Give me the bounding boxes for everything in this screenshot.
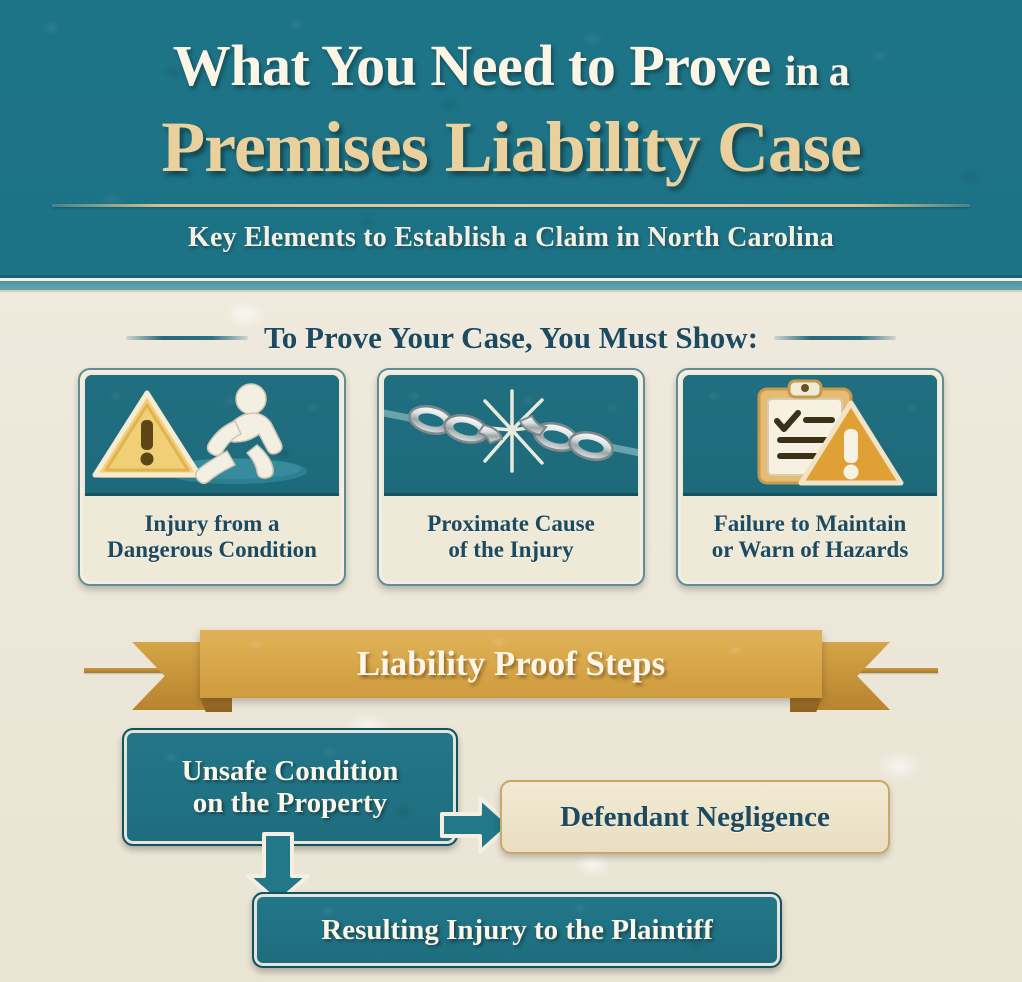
card-caption-1-line2: Dangerous Condition <box>107 537 317 562</box>
header-banner: What You Need to Provein a Premises Liab… <box>0 0 1022 278</box>
card-caption-3: Failure to Maintain or Warn of Hazards <box>678 496 942 584</box>
liability-proof-steps-ribbon: Liability Proof Steps <box>0 620 1022 716</box>
section-rule-left <box>126 336 248 340</box>
proof-card-injury-dangerous-condition[interactable]: Injury from a Dangerous Condition <box>78 368 346 586</box>
card-caption-3-line2: or Warn of Hazards <box>712 537 909 562</box>
ribbon-tail-left <box>132 642 210 710</box>
proof-elements-card-row: Injury from a Dangerous Condition <box>78 368 944 588</box>
flow-unsafe-line2: on the Property <box>193 787 387 819</box>
page-title-main: What You Need to Prove <box>173 33 771 98</box>
liability-flow-diagram: Unsafe Condition on the Property Defenda… <box>0 724 1022 974</box>
section-heading-label: To Prove Your Case, You Must Show: <box>264 320 758 356</box>
card-art-3 <box>683 375 937 496</box>
page-subtitle: Key Elements to Establish a Claim in Nor… <box>0 222 1022 254</box>
card-caption-2: Proximate Cause of the Injury <box>379 496 643 584</box>
infographic-page: What You Need to Provein a Premises Liab… <box>0 0 1022 982</box>
card-caption-1: Injury from a Dangerous Condition <box>80 496 344 584</box>
card-caption-1-line1: Injury from a <box>144 511 279 536</box>
flow-resulting-label: Resulting Injury to the Plaintiff <box>321 914 713 946</box>
page-title-tail: in a <box>785 49 850 95</box>
card-art-1 <box>85 375 339 496</box>
flow-box-unsafe-condition[interactable]: Unsafe Condition on the Property <box>122 728 458 846</box>
ribbon-body: Liability Proof Steps <box>200 630 822 698</box>
broken-chain-icon <box>384 375 638 493</box>
clipboard-warning-icon <box>683 375 937 493</box>
page-title-line-2: Premises Liability Case <box>0 106 1022 189</box>
header-bottom-strip <box>0 278 1022 292</box>
flow-unsafe-line1: Unsafe Condition <box>182 755 399 787</box>
ribbon-label: Liability Proof Steps <box>357 644 666 684</box>
section-rule-right <box>774 336 896 340</box>
card-caption-2-line2: of the Injury <box>448 537 573 562</box>
card-caption-3-line1: Failure to Maintain <box>714 511 907 536</box>
flow-defendant-label: Defendant Negligence <box>560 801 830 833</box>
flow-box-resulting-injury[interactable]: Resulting Injury to the Plaintiff <box>252 892 782 968</box>
warning-triangle-slip-person-icon <box>85 375 339 493</box>
page-title-line-1: What You Need to Provein a <box>0 32 1022 99</box>
section-heading: To Prove Your Case, You Must Show: <box>0 316 1022 360</box>
ribbon-tail-right <box>812 642 890 710</box>
flow-box-defendant-negligence[interactable]: Defendant Negligence <box>500 780 890 854</box>
proof-card-proximate-cause[interactable]: Proximate Cause of the Injury <box>377 368 645 586</box>
title-divider <box>52 204 970 207</box>
proof-card-failure-to-maintain[interactable]: Failure to Maintain or Warn of Hazards <box>676 368 944 586</box>
card-caption-2-line1: Proximate Cause <box>427 511 595 536</box>
card-art-2 <box>384 375 638 496</box>
